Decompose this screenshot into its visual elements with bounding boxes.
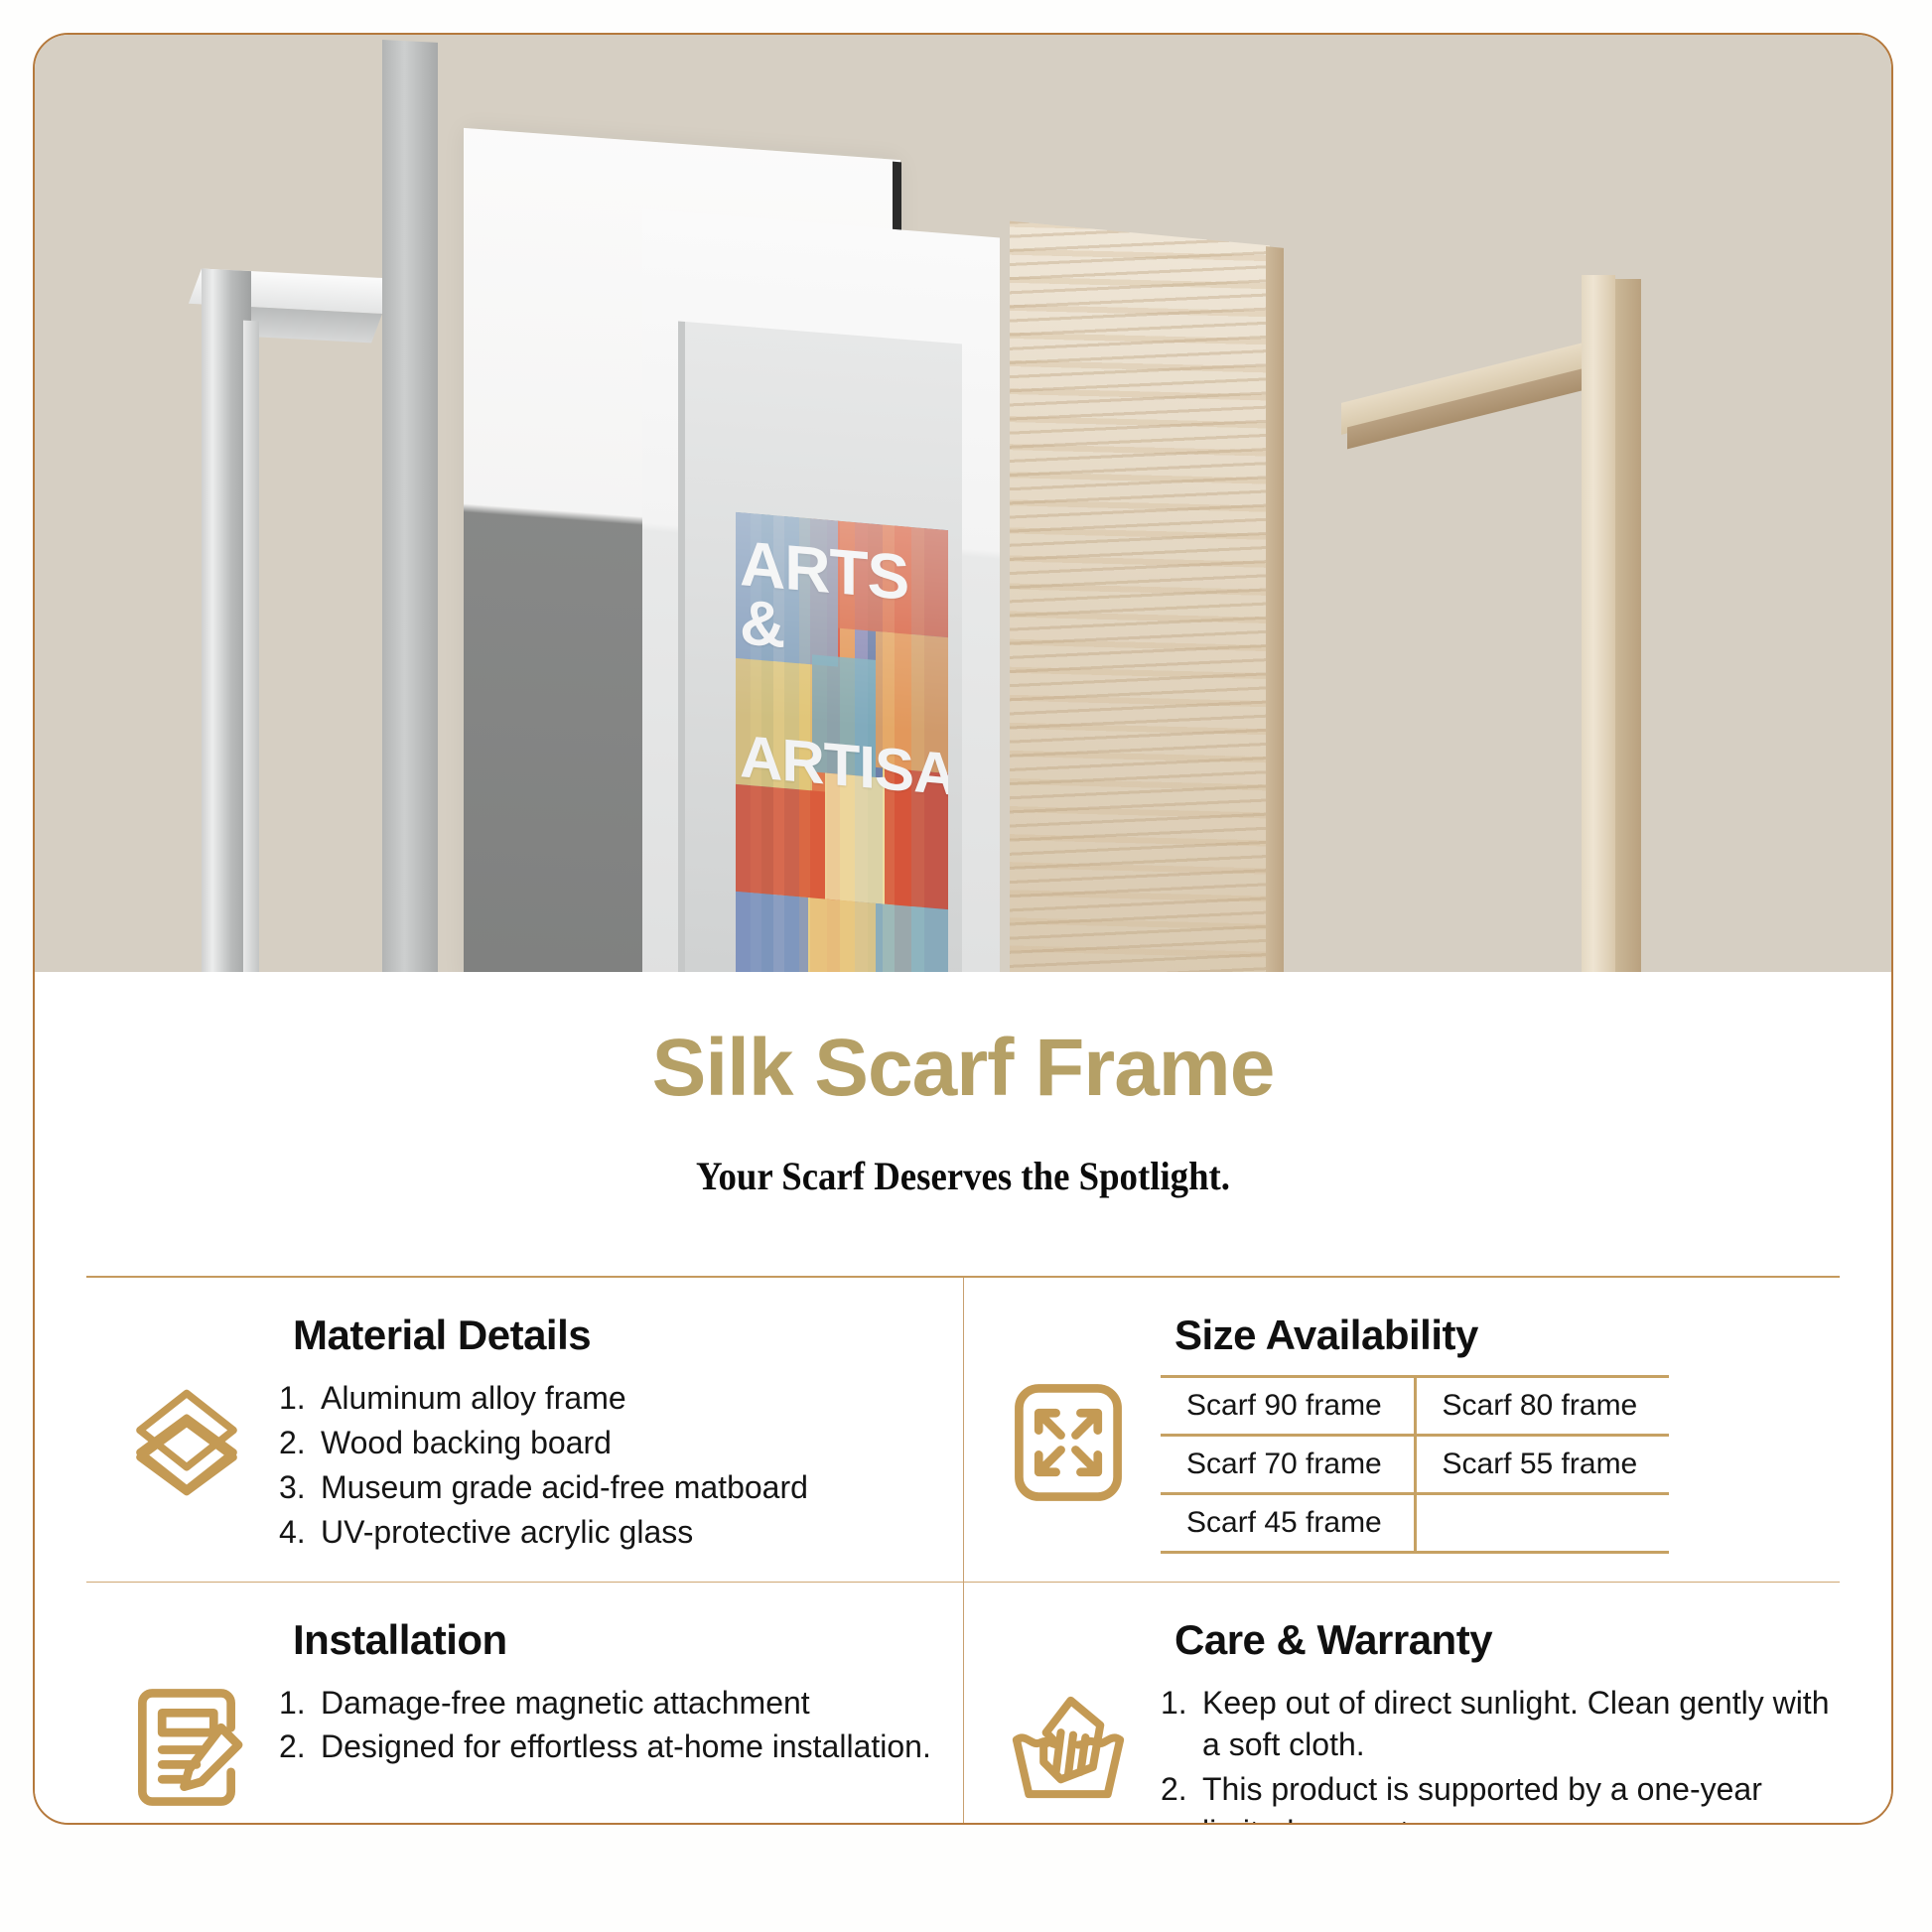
wood-frame-right-rail	[1582, 275, 1615, 972]
product-card: ARTS & ARTISAN	[33, 33, 1893, 1825]
table-row: Scarf 70 frame Scarf 55 frame	[1161, 1436, 1669, 1494]
list-item: This product is supported by a one-year …	[1161, 1768, 1830, 1825]
hand-wash-icon	[994, 1678, 1143, 1809]
page-title: Silk Scarf Frame	[35, 1022, 1891, 1115]
size-availability-table: Scarf 90 frame Scarf 80 frame Scarf 70 f…	[1161, 1375, 1669, 1554]
infographic-page: ARTS & ARTISAN	[0, 0, 1932, 1932]
size-cell: Scarf 70 frame	[1161, 1436, 1415, 1494]
list-item: Museum grade acid-free matboard	[279, 1466, 808, 1509]
list-item: UV-protective acrylic glass	[279, 1511, 808, 1554]
exploded-frame-illustration: ARTS & ARTISAN	[35, 35, 1891, 972]
feature-row-2: Installation	[86, 1582, 1840, 1826]
wood-frame-layer	[1341, 184, 1659, 972]
section-size-availability-heading: Size Availability	[1174, 1311, 1830, 1359]
table-row: Scarf 45 frame	[1161, 1494, 1669, 1553]
section-size-availability: Size Availability	[963, 1278, 1840, 1582]
list-item: Keep out of direct sunlight. Clean gentl…	[1161, 1682, 1830, 1767]
hero-product-image: ARTS & ARTISAN	[35, 35, 1891, 972]
poster-artwork: ARTS & ARTISAN	[736, 512, 948, 972]
aluminum-frame-layer	[202, 35, 450, 972]
poster-glass-reflection	[736, 512, 948, 972]
material-details-list: Aluminum alloy frame Wood backing board …	[279, 1373, 808, 1556]
wood-backing-board-edge	[1266, 246, 1284, 972]
installation-list: Damage-free magnetic attachment Designed…	[279, 1678, 931, 1771]
table-row: Scarf 90 frame Scarf 80 frame	[1161, 1377, 1669, 1436]
list-item: Damage-free magnetic attachment	[279, 1682, 931, 1725]
wood-frame-right-side	[1615, 279, 1641, 972]
page-subtitle: Your Scarf Deserves the Spotlight.	[109, 1153, 1817, 1199]
size-cell: Scarf 45 frame	[1161, 1494, 1415, 1553]
size-cell: Scarf 55 frame	[1415, 1436, 1669, 1494]
section-installation: Installation	[86, 1582, 963, 1826]
care-warranty-list: Keep out of direct sunlight. Clean gentl…	[1161, 1678, 1830, 1826]
list-item: Wood backing board	[279, 1422, 808, 1464]
section-material-details: Material Details Aluminum alloy fra	[86, 1278, 963, 1582]
aluminum-frame-inner-shadow	[240, 307, 382, 343]
section-care-warranty: Care & Warranty	[963, 1582, 1840, 1826]
size-cell: Scarf 80 frame	[1415, 1377, 1669, 1436]
list-item: Designed for effortless at-home installa…	[279, 1725, 931, 1768]
content-area: Silk Scarf Frame Your Scarf Deserves the…	[35, 972, 1891, 1825]
section-care-warranty-heading: Care & Warranty	[1174, 1616, 1830, 1664]
list-item: Aluminum alloy frame	[279, 1377, 808, 1420]
document-pencil-icon	[112, 1678, 261, 1809]
feature-row-1: Material Details Aluminum alloy fra	[86, 1278, 1840, 1582]
aluminum-frame-right-rail	[382, 40, 438, 972]
aluminum-frame-bevel	[243, 321, 259, 972]
size-cell: Scarf 90 frame	[1161, 1377, 1415, 1436]
layers-icon	[112, 1373, 261, 1504]
expand-arrows-icon	[994, 1373, 1143, 1504]
feature-grid: Material Details Aluminum alloy fra	[86, 1276, 1840, 1825]
section-material-details-heading: Material Details	[293, 1311, 953, 1359]
wood-backing-board-layer	[1010, 221, 1270, 972]
size-cell-empty	[1415, 1494, 1669, 1553]
section-installation-heading: Installation	[293, 1616, 953, 1664]
